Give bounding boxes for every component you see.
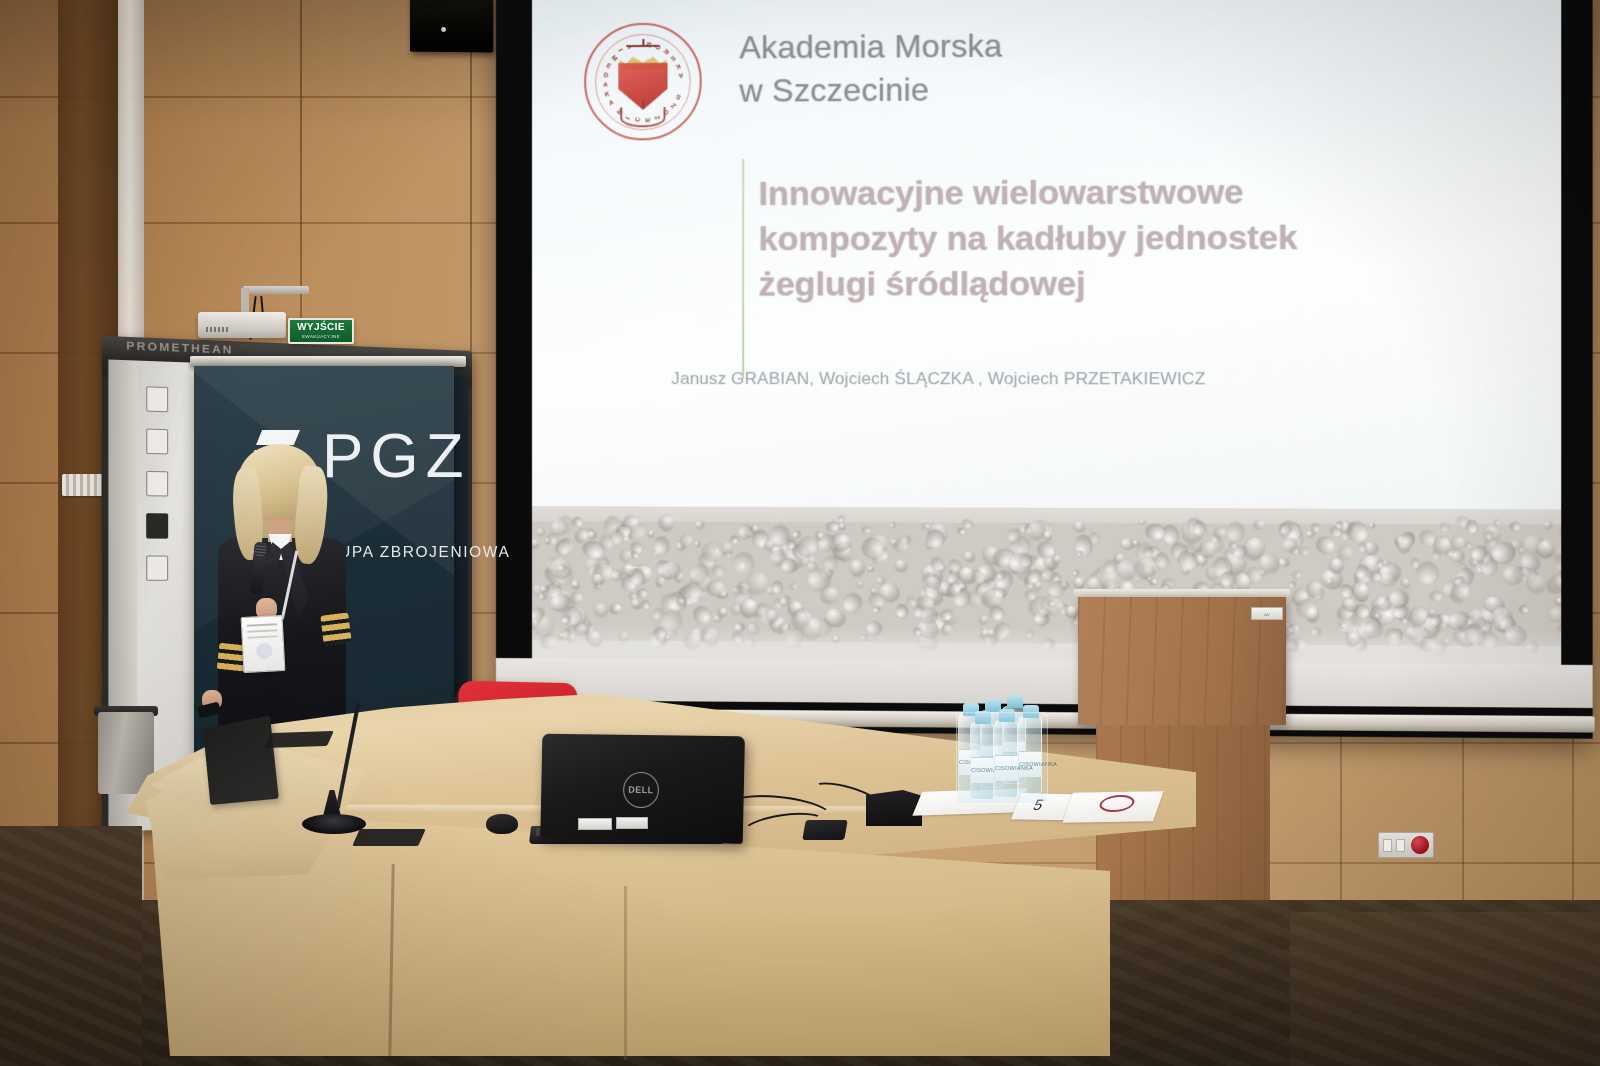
exit-sign-line2: EWAKUACYJNE xyxy=(302,334,340,339)
power-adapter xyxy=(802,820,848,840)
red-emergency-stop-button[interactable] xyxy=(1411,836,1429,854)
presentation-slide: AKADEMIA MORSKASZCZECIN Akademia Morska … xyxy=(532,0,1561,665)
crest-anchor-icon xyxy=(621,107,666,127)
crest-cross-icon xyxy=(627,38,660,52)
page-icon[interactable] xyxy=(146,471,168,497)
water-bottle-pack[interactable]: CISOWIANKA CISOWIANKA CISOWIANKA CISOWIA… xyxy=(958,700,1046,802)
computer-mouse[interactable] xyxy=(486,814,518,834)
carpet-floor-right xyxy=(1290,912,1600,1066)
slide-material-photo-band xyxy=(532,506,1561,665)
projection-screen: AKADEMIA MORSKASZCZECIN Akademia Morska … xyxy=(496,0,1593,739)
desk-document-holder xyxy=(866,790,922,826)
conference-name-badge xyxy=(241,615,286,673)
asset-label-sticker xyxy=(616,817,648,829)
slide-institution-name: Akademia Morska w Szczecinie xyxy=(739,23,1190,112)
maritime-university-crest-icon: AKADEMIA MORSKASZCZECIN xyxy=(584,23,701,141)
projector-mount-arm xyxy=(243,286,309,294)
slide-accent-rule xyxy=(742,159,744,378)
presenter-person xyxy=(196,438,368,733)
gooseneck-microphone[interactable] xyxy=(296,702,366,830)
desk-monitor[interactable] xyxy=(203,715,279,805)
slide-title: Innowacyjne wielowarstwowe kompozyty na … xyxy=(759,169,1482,308)
light-switch[interactable] xyxy=(1396,839,1405,852)
projection-screen-surface: AKADEMIA MORSKASZCZECIN Akademia Morska … xyxy=(532,0,1561,665)
emergency-exit-sign: WYJŚCIE EWAKUACYJNE xyxy=(288,318,354,344)
asset-label-sticker xyxy=(578,818,612,830)
page-icon[interactable] xyxy=(146,555,168,580)
wall-control-panel[interactable] xyxy=(1378,832,1434,858)
desk-cable-port xyxy=(352,829,426,846)
wall-vent-grille xyxy=(62,474,104,496)
lectern-av-label: AV xyxy=(1251,607,1283,620)
carpet-floor-left xyxy=(0,826,142,1066)
exit-sign-line1: WYJŚCIE xyxy=(297,323,345,333)
wall-speaker xyxy=(410,0,493,52)
projector-mount-post xyxy=(241,288,249,314)
whiteboard-tool-icons[interactable] xyxy=(146,386,188,597)
lecture-hall-scene: AKADEMIA MORSKASZCZECIN Akademia Morska … xyxy=(0,0,1600,1066)
dell-logo: DELL xyxy=(623,772,659,809)
light-switch[interactable] xyxy=(1383,839,1392,852)
uniform-sleeve-stripes xyxy=(320,612,351,645)
ceiling-projector xyxy=(198,312,286,338)
page-icon[interactable] xyxy=(146,386,168,412)
page-filled-icon[interactable] xyxy=(146,513,168,539)
bottle-cap xyxy=(1007,695,1023,708)
bottle-shrink-wrap xyxy=(956,712,1048,804)
slide-authors: Janusz GRABIAN, Wojciech ŚLĄCZKA , Wojci… xyxy=(671,369,1496,390)
page-icon[interactable] xyxy=(146,429,168,455)
